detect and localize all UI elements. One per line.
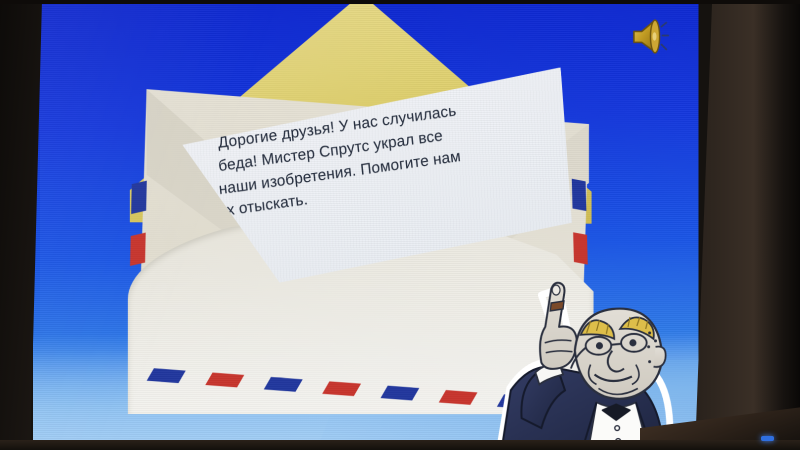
presentation-screen: Дорогие друзья! У нас случилась беда! Ми… xyxy=(33,0,699,450)
power-led-icon xyxy=(761,436,774,441)
letter-line-4: их отыскать. xyxy=(217,156,550,224)
audio-play-button[interactable] xyxy=(628,14,677,60)
stripe-blue xyxy=(264,377,303,392)
stripe-blue xyxy=(147,368,186,383)
mister-sprouts[interactable] xyxy=(480,269,677,448)
envelope-stripes-right xyxy=(572,180,588,264)
stripe-blue xyxy=(572,179,587,211)
stripe-red xyxy=(439,390,478,405)
screenshot-root: Дорогие друзья! У нас случилась беда! Ми… xyxy=(0,0,800,450)
stripe-red xyxy=(322,381,361,396)
stripe-red xyxy=(573,232,588,264)
stripe-red xyxy=(130,233,146,266)
bezel-bottom xyxy=(0,440,800,450)
character-illustration xyxy=(480,269,677,448)
letter-line-3: наши изобретения. Помогите нам xyxy=(218,134,548,202)
stripe-red xyxy=(205,373,244,388)
stripe-blue xyxy=(381,386,420,401)
speaker-icon xyxy=(628,14,677,60)
stripe-blue xyxy=(131,181,147,214)
bezel-top xyxy=(0,0,800,4)
